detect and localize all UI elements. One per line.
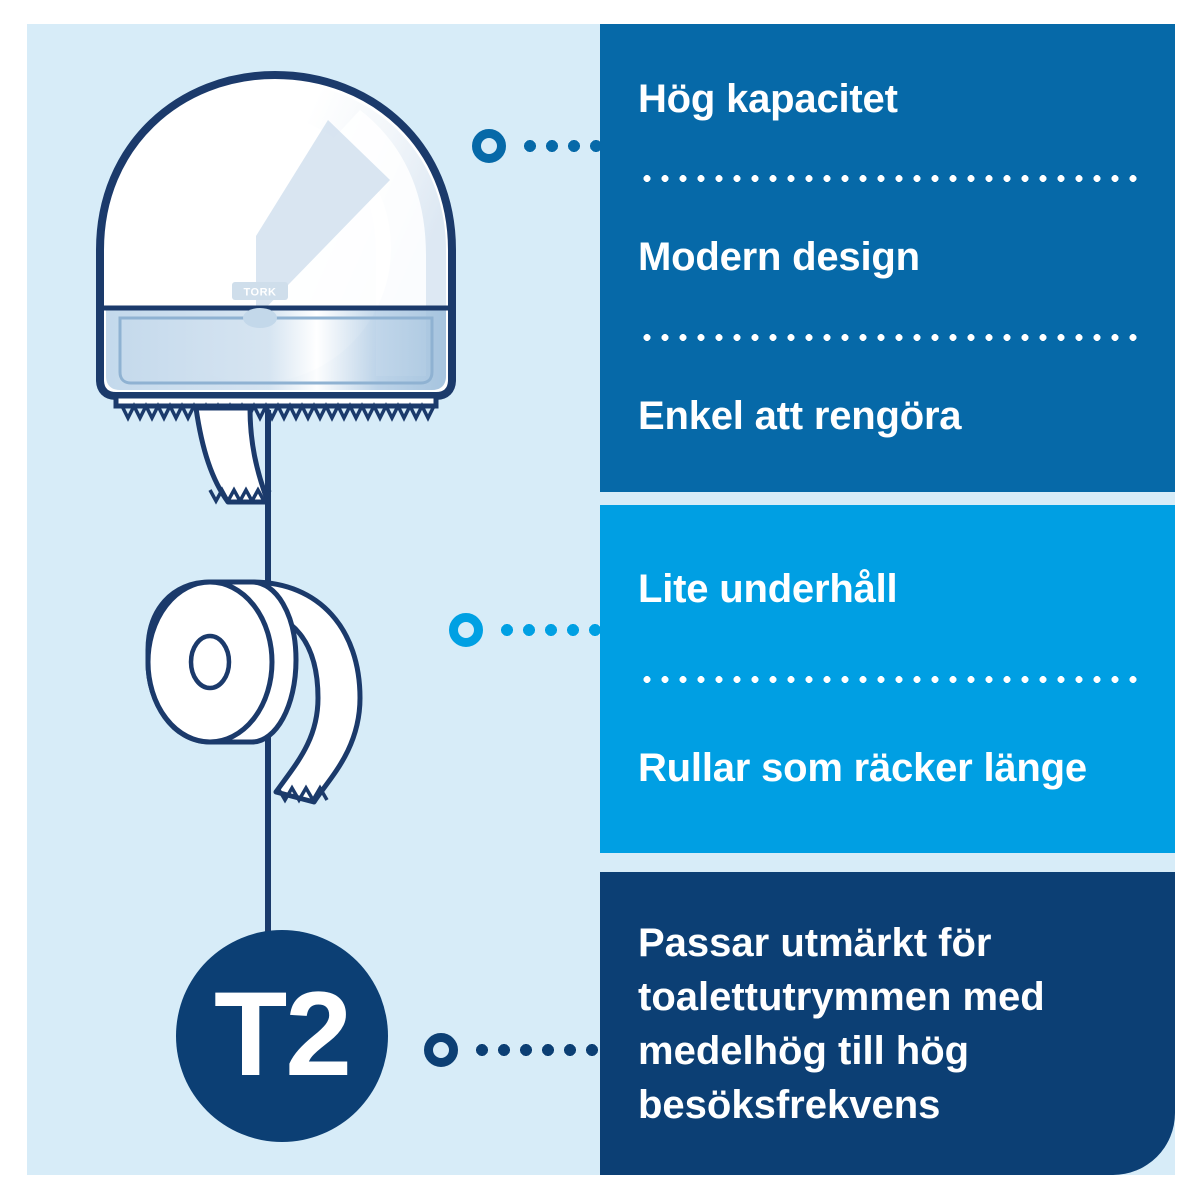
- connector-ring-icon: [424, 1033, 458, 1067]
- svg-text:TORK: TORK: [244, 287, 277, 299]
- feature-item-rullar-som-racker-lange: Rullar som räcker länge: [638, 745, 1137, 792]
- connector-usage: [424, 1033, 626, 1067]
- tork-jumbo-dispenser: TORK: [100, 75, 452, 406]
- connector-ring-icon: [449, 613, 483, 647]
- dotted-separator: [638, 334, 1137, 341]
- feature-panel-usage: Passar utmärkt för toalettutrymmen med m…: [600, 872, 1175, 1175]
- dotted-separator: [638, 676, 1137, 683]
- feature-item-hog-kapacitet: Hög kapacitet: [638, 76, 1137, 123]
- usage-description: Passar utmärkt för toalettutrymmen med m…: [638, 916, 1137, 1132]
- feature-item-modern-design: Modern design: [638, 234, 1137, 281]
- t2-system-badge: T2: [176, 930, 388, 1142]
- feature-item-enkel-att-rengora: Enkel att rengöra: [638, 393, 1137, 440]
- connector-ring-icon: [472, 129, 506, 163]
- feature-item-lite-underhall: Lite underhåll: [638, 566, 1137, 613]
- infographic-canvas: TORK: [0, 0, 1200, 1200]
- dotted-separator: [638, 175, 1137, 182]
- feature-panel-maintenance: Lite underhåll Rullar som räcker länge: [600, 505, 1175, 853]
- tork-logo: TORK: [232, 282, 288, 300]
- toilet-paper-roll: [148, 582, 360, 802]
- t2-badge-label: T2: [214, 974, 350, 1094]
- feature-panel-features: Hög kapacitet Modern design Enkel att re…: [600, 24, 1175, 492]
- dispensed-paper-sheet: [122, 406, 434, 502]
